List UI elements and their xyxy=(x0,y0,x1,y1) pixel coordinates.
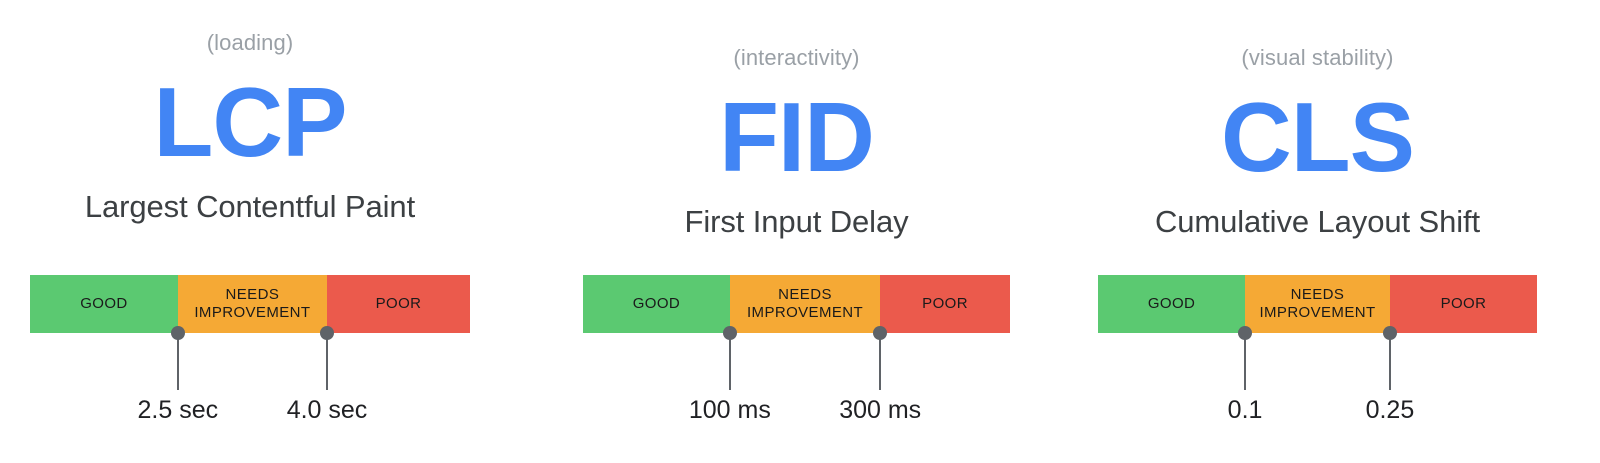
metric-header-lcp: (loading) LCP Largest Contentful Paint xyxy=(30,30,470,226)
segment-poor-cls: POOR xyxy=(1390,275,1537,333)
segment-poor-lcp: POOR xyxy=(327,275,470,333)
ni-line-2: IMPROVEMENT xyxy=(747,304,863,321)
threshold-leader-line xyxy=(879,333,881,390)
metric-acronym-cls: CLS xyxy=(1098,85,1537,189)
metric-fullname-fid: First Input Delay xyxy=(583,203,1010,241)
segment-needs-improvement-fid: NEEDS IMPROVEMENT xyxy=(730,275,880,333)
segment-poor-fid: POOR xyxy=(880,275,1010,333)
threshold-leader-line xyxy=(1244,333,1246,390)
ni-line-1: NEEDS xyxy=(778,286,832,303)
segment-needs-improvement-cls: NEEDS IMPROVEMENT xyxy=(1245,275,1390,333)
ni-line-2: IMPROVEMENT xyxy=(194,304,310,321)
segment-needs-improvement-label-fid: NEEDS IMPROVEMENT xyxy=(747,286,863,322)
threshold-bar-cls: GOOD NEEDS IMPROVEMENT POOR 0.1 0.25 xyxy=(1098,275,1537,333)
threshold-label-fid-2: 300 ms xyxy=(780,395,980,425)
metric-column-fid: (interactivity) FID First Input Delay GO… xyxy=(583,0,1010,463)
core-web-vitals-figure: (loading) LCP Largest Contentful Paint G… xyxy=(0,0,1600,463)
ni-line-1: NEEDS xyxy=(1291,286,1345,303)
metric-fullname-cls: Cumulative Layout Shift xyxy=(1098,203,1537,241)
segment-needs-improvement-lcp: NEEDS IMPROVEMENT xyxy=(178,275,327,333)
ni-line-2: IMPROVEMENT xyxy=(1259,304,1375,321)
ni-line-1: NEEDS xyxy=(226,286,280,303)
threshold-leader-line xyxy=(1389,333,1391,390)
metric-header-fid: (interactivity) FID First Input Delay xyxy=(583,45,1010,241)
segment-needs-improvement-label-lcp: NEEDS IMPROVEMENT xyxy=(194,286,310,322)
metric-category-cls: (visual stability) xyxy=(1098,45,1537,71)
segment-needs-improvement-label-cls: NEEDS IMPROVEMENT xyxy=(1259,286,1375,322)
metric-header-cls: (visual stability) CLS Cumulative Layout… xyxy=(1098,45,1537,241)
metric-category-fid: (interactivity) xyxy=(583,45,1010,71)
metric-fullname-lcp: Largest Contentful Paint xyxy=(30,188,470,226)
metric-acronym-lcp: LCP xyxy=(30,70,470,174)
metric-column-cls: (visual stability) CLS Cumulative Layout… xyxy=(1098,0,1537,463)
segment-good-fid: GOOD xyxy=(583,275,730,333)
threshold-leader-line xyxy=(326,333,328,390)
metric-acronym-fid: FID xyxy=(583,85,1010,189)
segment-good-cls: GOOD xyxy=(1098,275,1245,333)
threshold-bar-fid: GOOD NEEDS IMPROVEMENT POOR 100 ms 300 m… xyxy=(583,275,1010,333)
segment-good-lcp: GOOD xyxy=(30,275,178,333)
threshold-leader-line xyxy=(177,333,179,390)
metric-category-lcp: (loading) xyxy=(30,30,470,56)
threshold-label-cls-2: 0.25 xyxy=(1290,395,1490,425)
threshold-label-lcp-2: 4.0 sec xyxy=(227,395,427,425)
metric-column-lcp: (loading) LCP Largest Contentful Paint G… xyxy=(30,0,470,463)
threshold-bar-lcp: GOOD NEEDS IMPROVEMENT POOR 2.5 sec 4.0 … xyxy=(30,275,470,333)
threshold-leader-line xyxy=(729,333,731,390)
